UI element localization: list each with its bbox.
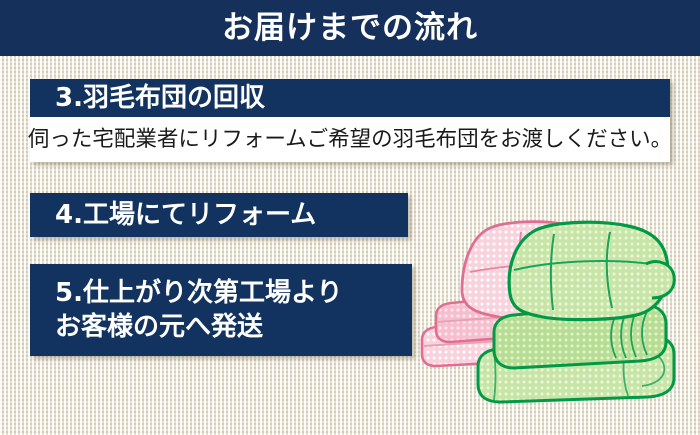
step-3-body: 伺った宅配業者にリフォームご希望の羽毛布団をお渡しください。 [30,117,670,162]
step-3-header: 3.羽毛布団の回収 [30,79,670,117]
stacked-futons-illustration [414,218,700,414]
page-root: お届けまでの流れ 3.羽毛布団の回収 伺った宅配業者にリフォームご希望の羽毛布団… [0,0,700,435]
step-4-bar: 4.工場にてリフォーム [30,193,408,237]
step-3-card: 3.羽毛布団の回収 伺った宅配業者にリフォームご希望の羽毛布団をお渡しください。 [30,79,670,162]
step-5-box: 5.仕上がり次第工場より お客様の元へ発送 [30,264,412,356]
step-4-title: 4.工場にてリフォーム [55,202,316,228]
page-title: お届けまでの流れ [222,13,478,44]
page-header-bar: お届けまでの流れ [0,0,700,56]
green-comforter [509,222,668,319]
step-5-title-line-1: 5.仕上がり次第工場より [55,276,412,310]
step-3-title: 3.羽毛布団の回収 [55,85,265,111]
step-3-description: 伺った宅配業者にリフォームご希望の羽毛布団をお渡しください。 [28,129,672,151]
step-5-title-line-2: お客様の元へ発送 [55,310,412,344]
